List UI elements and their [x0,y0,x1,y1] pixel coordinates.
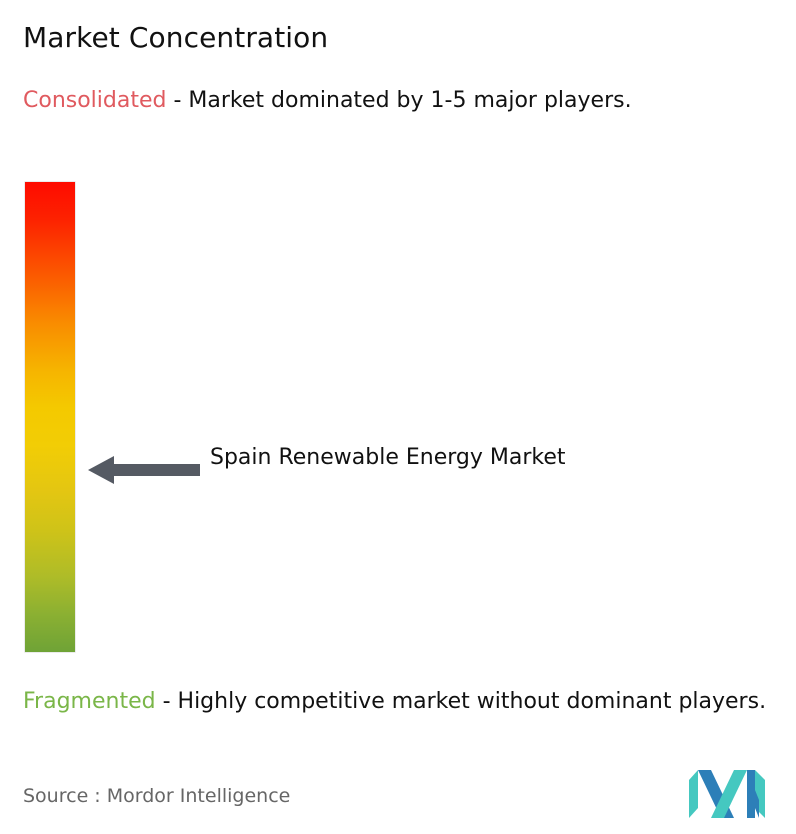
source-label: Source : [23,785,101,807]
legend-fragmented-keyword: Fragmented [23,689,156,714]
legend-fragmented-description: - Highly competitive market without domi… [163,689,766,714]
callout-market-label: Spain Renewable Energy Market [210,440,610,475]
page-title: Market Concentration [23,20,328,56]
legend-fragmented: Fragmented- Highly competitive market wi… [23,686,783,718]
arrow-left-icon [88,452,200,488]
concentration-gradient-bar [25,182,75,652]
mordor-intelligence-logo [689,770,765,820]
legend-consolidated: Consolidated- Market dominated by 1-5 ma… [23,85,768,117]
source-line: Source : Mordor Intelligence [23,783,290,809]
legend-consolidated-keyword: Consolidated [23,88,166,113]
source-value: Mordor Intelligence [107,785,291,807]
market-concentration-figure: Market Concentration Consolidated- Marke… [0,0,796,834]
legend-consolidated-description: - Market dominated by 1-5 major players. [173,88,631,113]
